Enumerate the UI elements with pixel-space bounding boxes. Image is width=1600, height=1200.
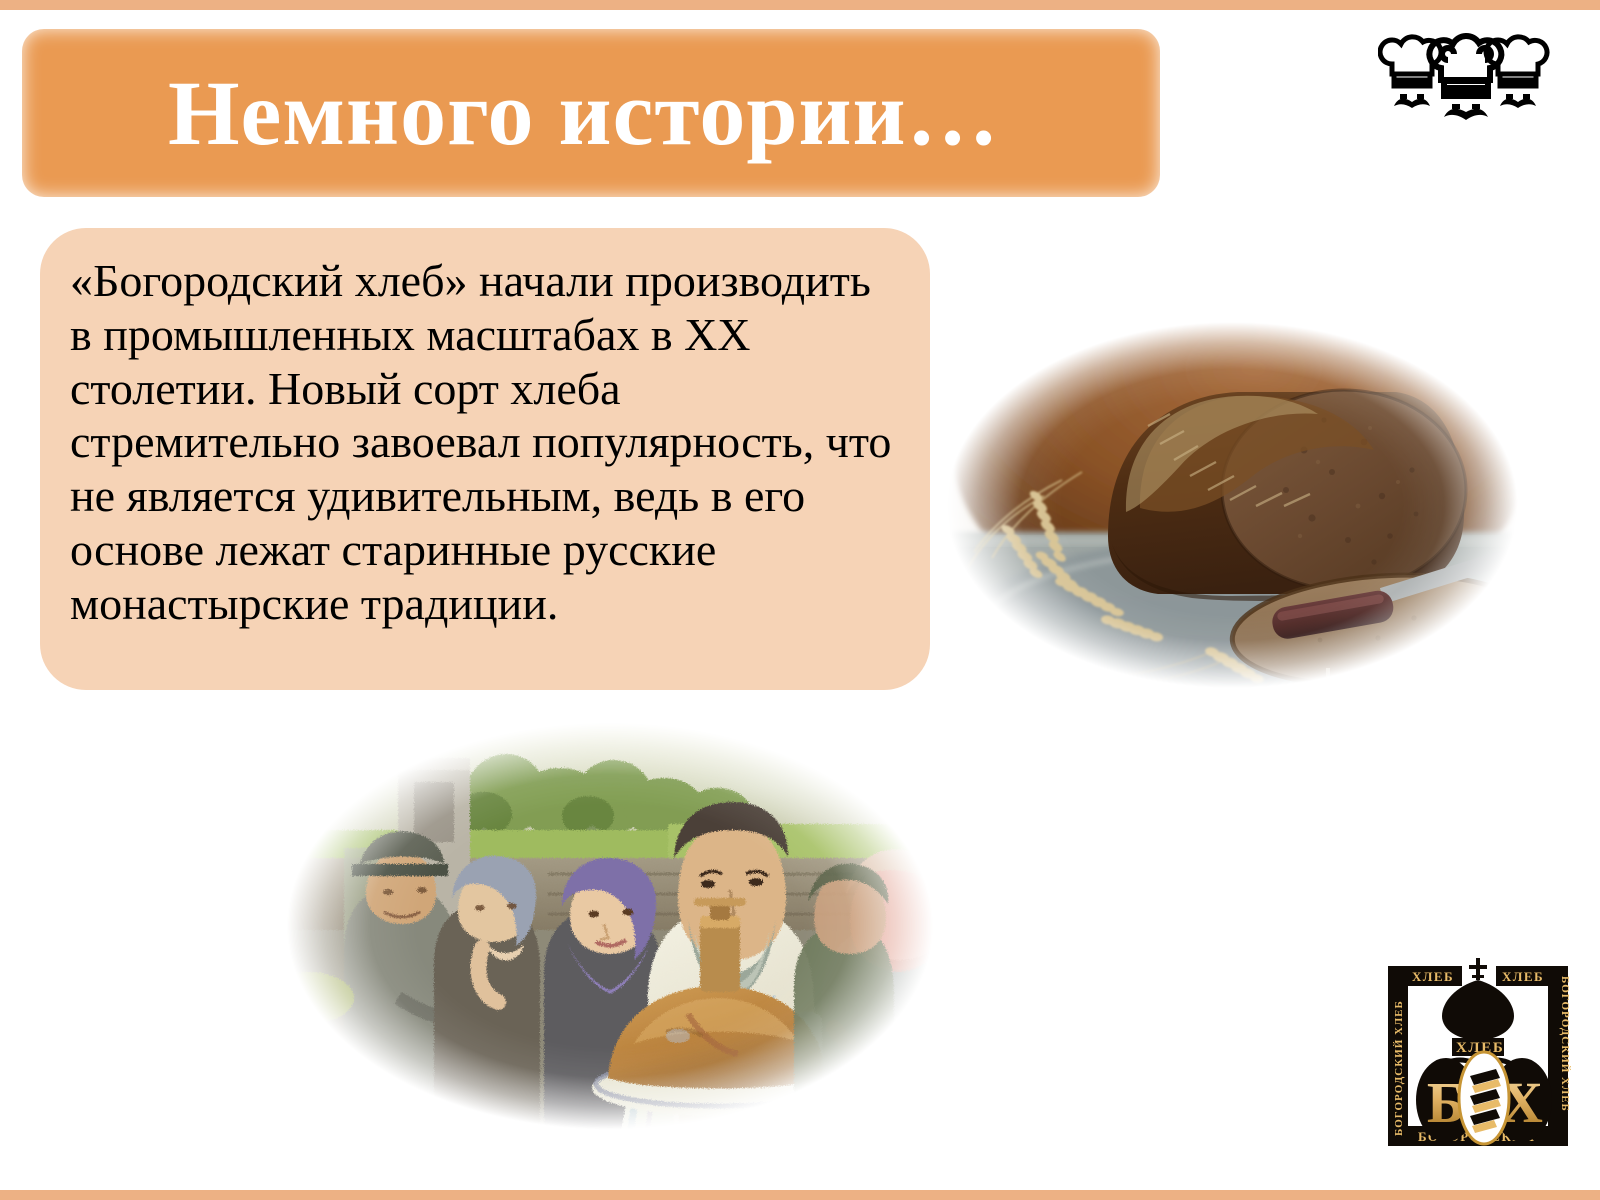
- title-banner: Немного истории…: [22, 29, 1160, 197]
- history-text-card: «Богородский хлеб» начали производить в …: [40, 228, 930, 690]
- svg-text:БОГОРОДСКИЙ ХЛЕБ: БОГОРОДСКИЙ ХЛЕБ: [1393, 1000, 1405, 1136]
- svg-text:БОГОРОДСКИЙ ХЛЕБ: БОГОРОДСКИЙ ХЛЕБ: [1559, 976, 1571, 1112]
- history-paragraph: «Богородский хлеб» начали производить в …: [70, 254, 896, 631]
- peasants-painting: [248, 698, 972, 1154]
- slide-canvas: Немного истории…: [0, 0, 1600, 1200]
- bogorodsky-khleb-logo: ХЛЕБ ХЛЕБ БОГОРОДСКИЙ БОГОРОДСКИЙ ХЛЕБ Б…: [1372, 950, 1584, 1162]
- top-accent-strip: [0, 0, 1600, 10]
- bottom-accent-strip: [0, 1190, 1600, 1200]
- bread-photo: [912, 300, 1552, 710]
- svg-text:ХЛЕБ: ХЛЕБ: [1502, 969, 1544, 984]
- three-chefs-icon: [1378, 24, 1550, 120]
- page-title: Немного истории…: [168, 67, 1000, 159]
- svg-text:ХЛЕБ: ХЛЕБ: [1412, 969, 1454, 984]
